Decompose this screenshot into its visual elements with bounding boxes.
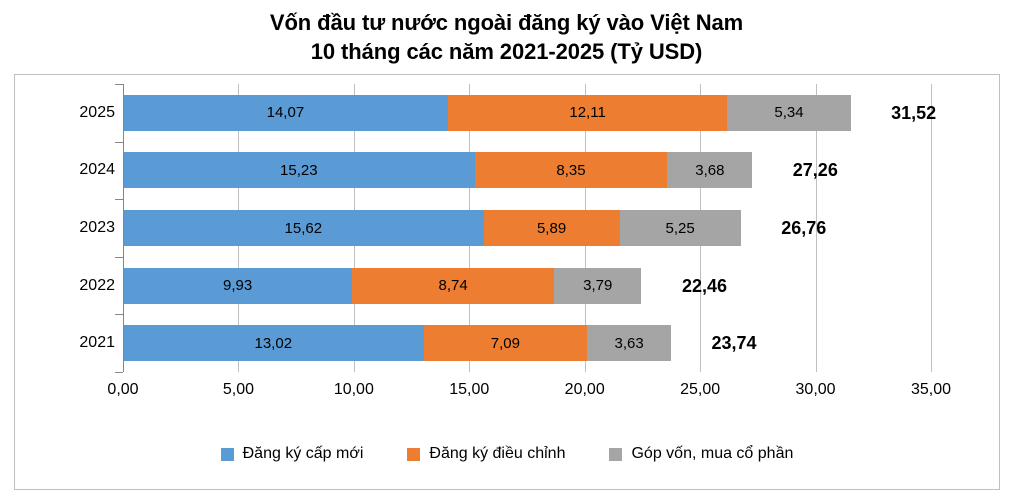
x-axis-tick-label: 15,00 — [434, 382, 504, 398]
y-axis-tick — [115, 257, 123, 258]
legend-swatch-icon — [609, 448, 622, 461]
bar-value-label: 3,79 — [583, 278, 612, 293]
legend-item-new[interactable]: Đăng ký cấp mới — [221, 446, 364, 462]
stacked-bar-2023[interactable]: 15,625,895,25 — [123, 210, 741, 246]
bar-value-label: 3,63 — [615, 336, 644, 351]
stacked-bar-2021[interactable]: 13,027,093,63 — [123, 325, 671, 361]
category-label-text: 2021 — [29, 335, 115, 351]
y-axis-line — [123, 84, 124, 372]
bar-total-label-2023: 26,76 — [759, 219, 849, 237]
category-label-2021: 2021 — [14, 325, 115, 361]
legend-swatch-icon — [221, 448, 234, 461]
x-axis-tick-label: 25,00 — [665, 382, 735, 398]
bar-value-label: 5,25 — [666, 221, 695, 236]
stacked-bar-2022[interactable]: 9,938,743,79 — [123, 268, 641, 304]
bar-value-label: 8,74 — [439, 278, 468, 293]
legend-label: Đăng ký điều chỉnh — [429, 446, 565, 462]
bar-value-label: 13,02 — [255, 336, 293, 351]
x-axis-tick-label: 20,00 — [550, 382, 620, 398]
bar-segment-new[interactable]: 15,62 — [123, 210, 484, 246]
legend-label: Đăng ký cấp mới — [243, 446, 364, 462]
bar-value-label: 7,09 — [491, 336, 520, 351]
bar-segment-adjust[interactable]: 12,11 — [448, 95, 728, 131]
x-axis-tick-label: 35,00 — [896, 382, 966, 398]
bar-segment-new[interactable]: 9,93 — [123, 268, 352, 304]
chart-title: Vốn đầu tư nước ngoài đăng ký vào Việt N… — [0, 8, 1013, 66]
category-label-2023: 2023 — [14, 210, 115, 246]
x-axis-tick-label: 10,00 — [319, 382, 389, 398]
bar-total-label-2025: 31,52 — [869, 104, 959, 122]
legend-item-capital[interactable]: Góp vốn, mua cổ phần — [609, 446, 793, 462]
bar-value-label: 15,23 — [280, 163, 318, 178]
bar-value-label: 5,89 — [537, 221, 566, 236]
bar-value-label: 5,34 — [774, 105, 803, 120]
legend-swatch-icon — [407, 448, 420, 461]
y-axis-tick — [115, 84, 123, 85]
bar-segment-capital[interactable]: 5,34 — [727, 95, 850, 131]
gridline-x-35-00 — [931, 84, 932, 372]
legend-label: Góp vốn, mua cổ phần — [631, 446, 793, 462]
y-axis-tick — [115, 199, 123, 200]
category-label-2024: 2024 — [14, 152, 115, 188]
chart-title-line-2: 10 tháng các năm 2021-2025 (Tỷ USD) — [0, 37, 1013, 66]
category-label-text: 2024 — [29, 162, 115, 178]
bar-segment-new[interactable]: 15,23 — [123, 152, 475, 188]
x-axis-tick-label: 30,00 — [781, 382, 851, 398]
category-label-text: 2022 — [29, 278, 115, 294]
legend-item-adjust[interactable]: Đăng ký điều chỉnh — [407, 446, 565, 462]
bar-segment-adjust[interactable]: 7,09 — [424, 325, 588, 361]
bar-total-label-2022: 22,46 — [660, 277, 750, 295]
bar-segment-adjust[interactable]: 8,35 — [475, 152, 668, 188]
bar-value-label: 9,93 — [223, 278, 252, 293]
y-axis-tick — [115, 142, 123, 143]
category-label-text: 2023 — [29, 220, 115, 236]
chart-title-line-1: Vốn đầu tư nước ngoài đăng ký vào Việt N… — [0, 8, 1013, 37]
bar-segment-capital[interactable]: 5,25 — [620, 210, 741, 246]
bar-value-label: 14,07 — [267, 105, 305, 120]
bar-segment-capital[interactable]: 3,68 — [667, 152, 752, 188]
category-label-text: 2025 — [29, 105, 115, 121]
bar-total-label-2021: 23,74 — [689, 334, 779, 352]
y-axis-tick — [115, 314, 123, 315]
bar-segment-capital[interactable]: 3,63 — [587, 325, 671, 361]
y-axis-tick — [115, 372, 123, 373]
bar-segment-new[interactable]: 13,02 — [123, 325, 424, 361]
category-label-2025: 2025 — [14, 95, 115, 131]
bar-value-label: 8,35 — [556, 163, 585, 178]
bar-segment-adjust[interactable]: 5,89 — [484, 210, 620, 246]
stacked-bar-2024[interactable]: 15,238,353,68 — [123, 152, 752, 188]
bar-value-label: 12,11 — [569, 105, 605, 120]
bar-value-label: 3,68 — [695, 163, 724, 178]
chart-container: Vốn đầu tư nước ngoài đăng ký vào Việt N… — [0, 0, 1013, 499]
x-axis-tick-label: 5,00 — [203, 382, 273, 398]
chart-legend: Đăng ký cấp mớiĐăng ký điều chỉnhGóp vốn… — [14, 446, 1000, 462]
stacked-bar-2025[interactable]: 14,0712,115,34 — [123, 95, 851, 131]
bar-value-label: 15,62 — [285, 221, 323, 236]
x-axis-tick-label: 0,00 — [88, 382, 158, 398]
bar-segment-capital[interactable]: 3,79 — [554, 268, 641, 304]
bar-total-label-2024: 27,26 — [770, 161, 860, 179]
category-label-2022: 2022 — [14, 268, 115, 304]
bar-segment-new[interactable]: 14,07 — [123, 95, 448, 131]
bar-segment-adjust[interactable]: 8,74 — [352, 268, 554, 304]
